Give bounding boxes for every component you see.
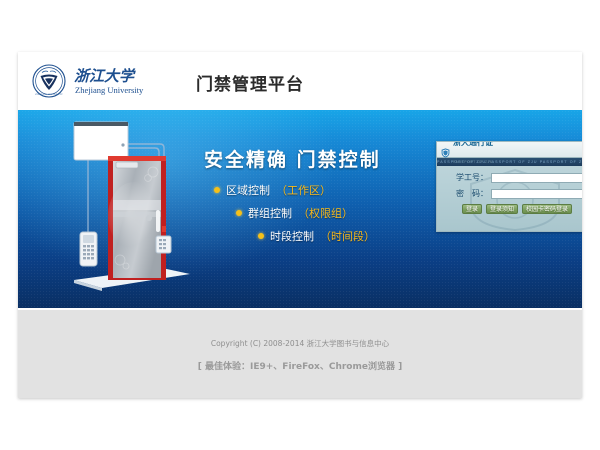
bullet-dot-icon	[214, 187, 220, 193]
brand-wordmark: 浙江大学 Zhejiang University	[73, 65, 185, 97]
field-row-password: 密 码：	[445, 188, 582, 199]
page-root: ZHEJIANG UNIVERSITY 浙江大学 Zhejiang Univer…	[0, 0, 600, 450]
feature-item-group: 群组控制 （权限组）	[236, 205, 375, 221]
access-control-door-illustration	[42, 114, 202, 304]
login-panel-title: 浙大通行证	[453, 141, 493, 147]
password-input[interactable]	[491, 189, 582, 199]
userid-label: 学工号：	[445, 172, 491, 183]
svg-text:ZHEJIANG UNIVERSITY: ZHEJIANG UNIVERSITY	[35, 93, 63, 96]
feature-list: 区域控制 （工作区） 群组控制 （权限组） 时段控制 （时间段）	[214, 182, 375, 251]
password-label: 密 码：	[445, 188, 491, 199]
copyright-text: Copyright (C) 2008-2014 浙江大学图书与信息中心	[18, 338, 582, 349]
login-button[interactable]: 登录	[462, 204, 482, 214]
feature-item-timeslot: 时段控制 （时间段）	[258, 228, 375, 244]
feature-item-area: 区域控制 （工作区）	[214, 182, 375, 198]
feature-paren: （工作区）	[276, 182, 331, 198]
login-button-row: 登录 登录须知 校园卡密码登录	[445, 204, 582, 214]
field-row-userid: 学工号：	[445, 172, 582, 183]
site-footer: Copyright (C) 2008-2014 浙江大学图书与信息中心 [ 最佳…	[18, 308, 582, 398]
banner-slogan: 安全精确 门禁控制	[204, 145, 381, 172]
feature-paren: （权限组）	[298, 205, 353, 221]
browser-recommendation-text: [ 最佳体验：IE9+、FireFox、Chrome浏览器 ]	[18, 359, 582, 372]
feature-label: 区域控制	[226, 182, 270, 198]
hero-banner: 安全精确 门禁控制 区域控制 （工作区） 群组控制 （权限组） 时段控制 （时间…	[18, 110, 582, 308]
bullet-dot-icon	[236, 210, 242, 216]
site-header: ZHEJIANG UNIVERSITY 浙江大学 Zhejiang Univer…	[18, 52, 582, 110]
userid-input[interactable]	[491, 173, 582, 183]
feature-paren: （时间段）	[320, 228, 375, 244]
feature-label: 群组控制	[248, 205, 292, 221]
brand-logo[interactable]: ZHEJIANG UNIVERSITY 浙江大学 Zhejiang Univer…	[32, 64, 185, 98]
platform-title: 门禁管理平台	[196, 70, 304, 95]
zju-seal-icon: ZHEJIANG UNIVERSITY	[32, 64, 66, 98]
feature-label: 时段控制	[270, 228, 314, 244]
shield-icon	[441, 145, 450, 155]
university-en-text: Zhejiang University	[75, 85, 144, 95]
content-card: ZHEJIANG UNIVERSITY 浙江大学 Zhejiang Univer…	[18, 52, 582, 398]
login-panel-subtitle: PASSPORT OF ZJU	[453, 160, 493, 164]
campus-card-login-button[interactable]: 校园卡密码登录	[522, 204, 572, 214]
university-cn-text: 浙江大学	[74, 67, 136, 85]
login-notice-button[interactable]: 登录须知	[486, 204, 518, 214]
bullet-dot-icon	[258, 233, 264, 239]
login-panel-titlebar: 浙大通行证 PASSPORT OF ZJU	[437, 142, 582, 158]
login-form: 学工号： 密 码： 登录 登录须知 校园卡密码登录	[437, 166, 582, 214]
login-panel: 浙大通行证 PASSPORT OF ZJU PASSPORT OF ZJU PA…	[436, 141, 582, 232]
